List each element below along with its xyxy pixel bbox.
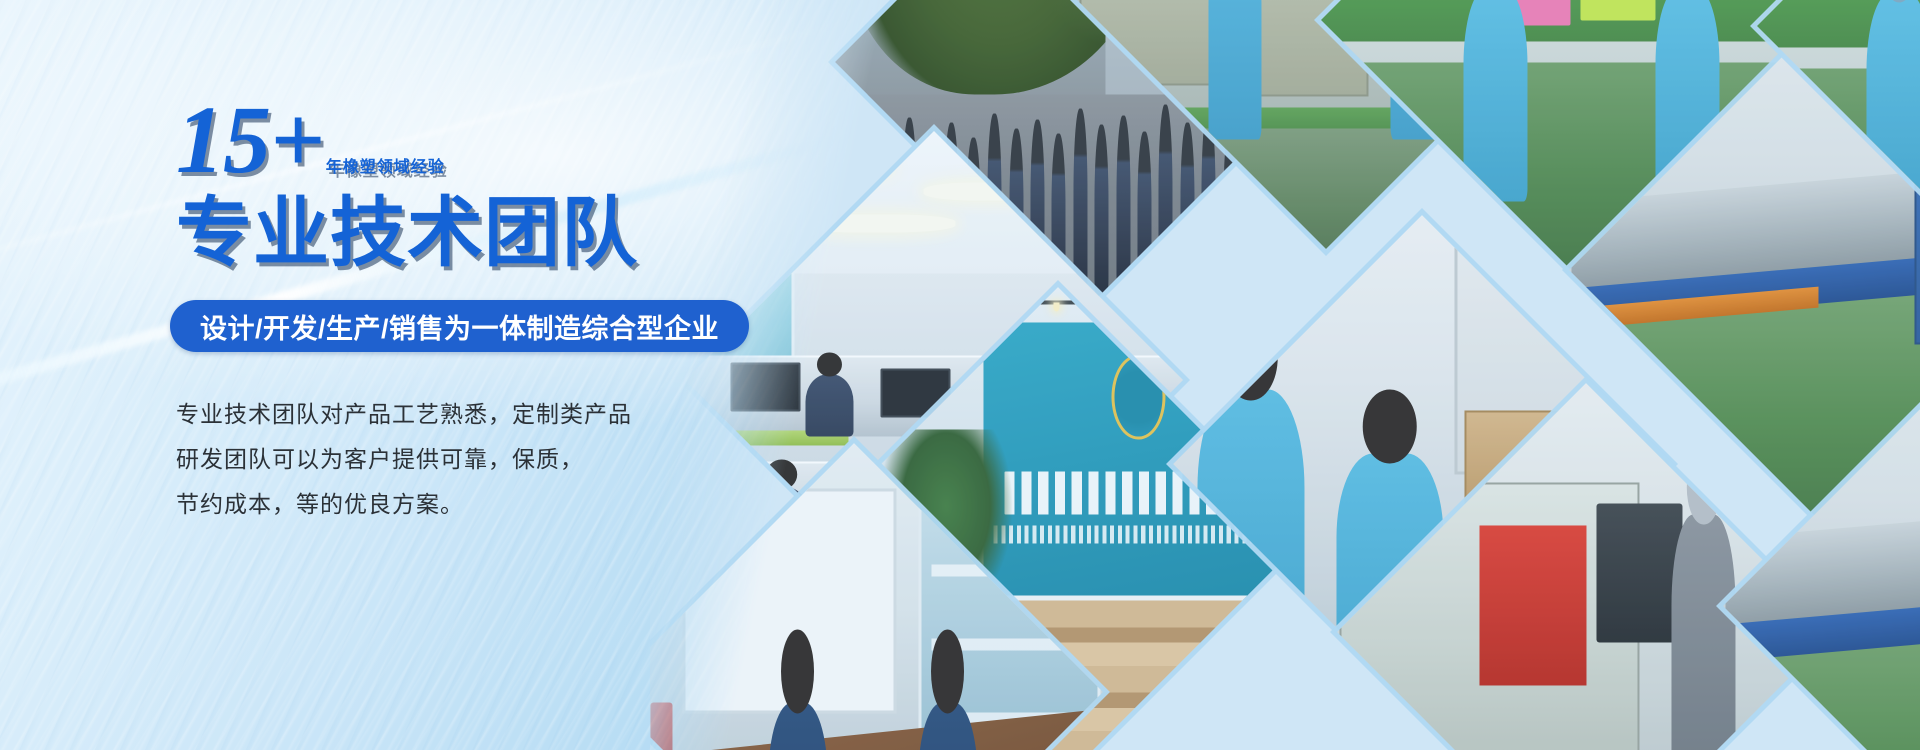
service-scope-pill: 设计/开发/生产/销售为一体制造综合型企业 [170, 300, 749, 352]
description-paragraph: 专业技术团队对产品工艺熟悉，定制类产品 研发团队可以为客户提供可靠，保质， 节约… [176, 392, 632, 527]
years-number: 15+ [176, 86, 324, 193]
hero-copy-block: 15+年橡塑领域经验 专业技术团队 设计/开发/生产/销售为一体制造综合型企业 … [0, 0, 900, 750]
description-line-1: 专业技术团队对产品工艺熟悉，定制类产品 [176, 392, 632, 437]
description-line-3: 节约成本，等的优良方案。 [176, 482, 632, 527]
headline-line-1-text: 年橡塑领域经验 [326, 159, 445, 176]
headline-line-2: 专业技术团队 [176, 196, 638, 272]
company-hero-banner: 15+年橡塑领域经验 专业技术团队 设计/开发/生产/销售为一体制造综合型企业 … [0, 0, 1920, 750]
description-line-2: 研发团队可以为客户提供可靠，保质， [176, 437, 632, 482]
headline-line-1: 15+年橡塑领域经验 [176, 92, 445, 188]
service-scope-pill-label: 设计/开发/生产/销售为一体制造综合型企业 [200, 307, 719, 346]
